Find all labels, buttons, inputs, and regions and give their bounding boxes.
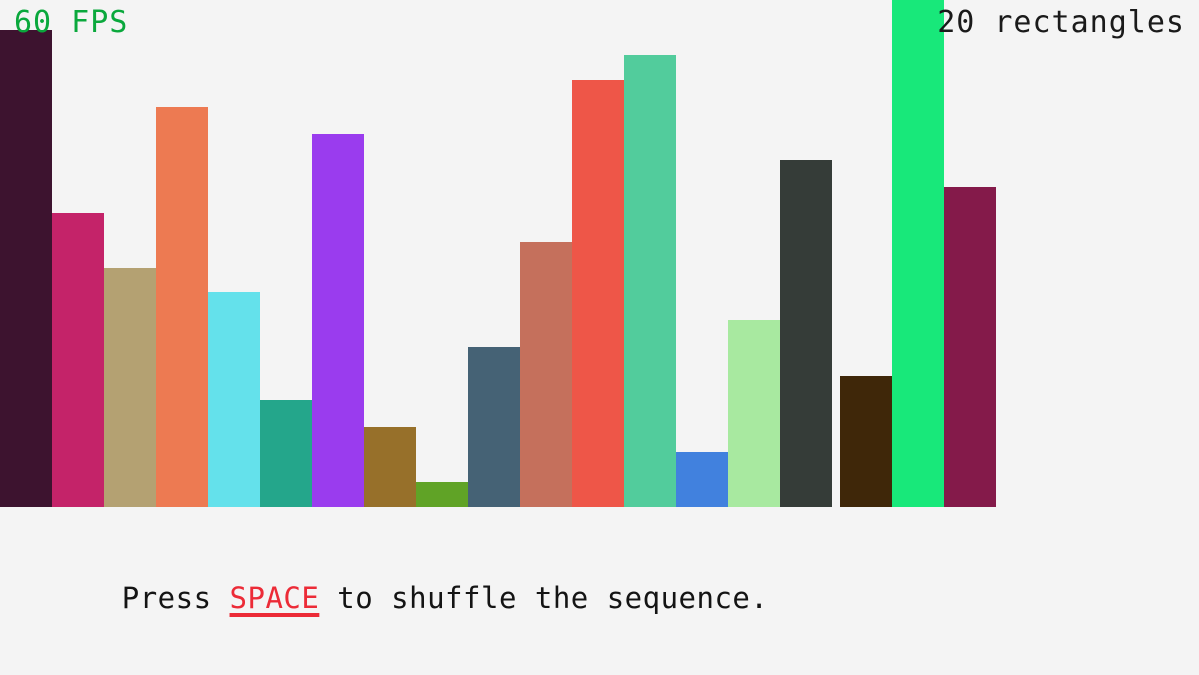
instruction-line-add: Press UP to add a rectangle and generate… [14, 670, 1199, 675]
chart-bar [416, 482, 468, 507]
rectangle-count-label: 20 rectangles [937, 8, 1185, 38]
bar-chart-canvas [0, 0, 1199, 512]
chart-bar [156, 107, 208, 507]
chart-bar [468, 347, 520, 507]
instruction-suffix: to shuffle the sequence. [319, 581, 768, 615]
chart-bar [728, 320, 780, 507]
rectangle-visualizer-app: 60 FPS 20 rectangles Press SPACE to shuf… [0, 0, 1199, 675]
chart-bar [944, 187, 996, 507]
instructions-panel: Press SPACE to shuffle the sequence. Pre… [0, 512, 1199, 675]
chart-bar [840, 376, 892, 507]
chart-bar [676, 452, 728, 507]
chart-bar [520, 242, 572, 507]
chart-bar [104, 268, 156, 507]
key-space[interactable]: SPACE [230, 581, 320, 615]
chart-bar [208, 292, 260, 507]
chart-bar [364, 427, 416, 507]
instruction-prefix: Press [122, 581, 230, 615]
chart-bar [0, 30, 52, 507]
chart-bar [572, 80, 624, 507]
chart-bar [312, 134, 364, 507]
fps-counter: 60 FPS [14, 8, 128, 38]
chart-bar [260, 400, 312, 507]
chart-bar [892, 0, 944, 507]
chart-bar [624, 55, 676, 507]
chart-bar [780, 160, 832, 507]
instruction-line-shuffle: Press SPACE to shuffle the sequence. [14, 526, 1199, 670]
chart-bar [52, 213, 104, 507]
